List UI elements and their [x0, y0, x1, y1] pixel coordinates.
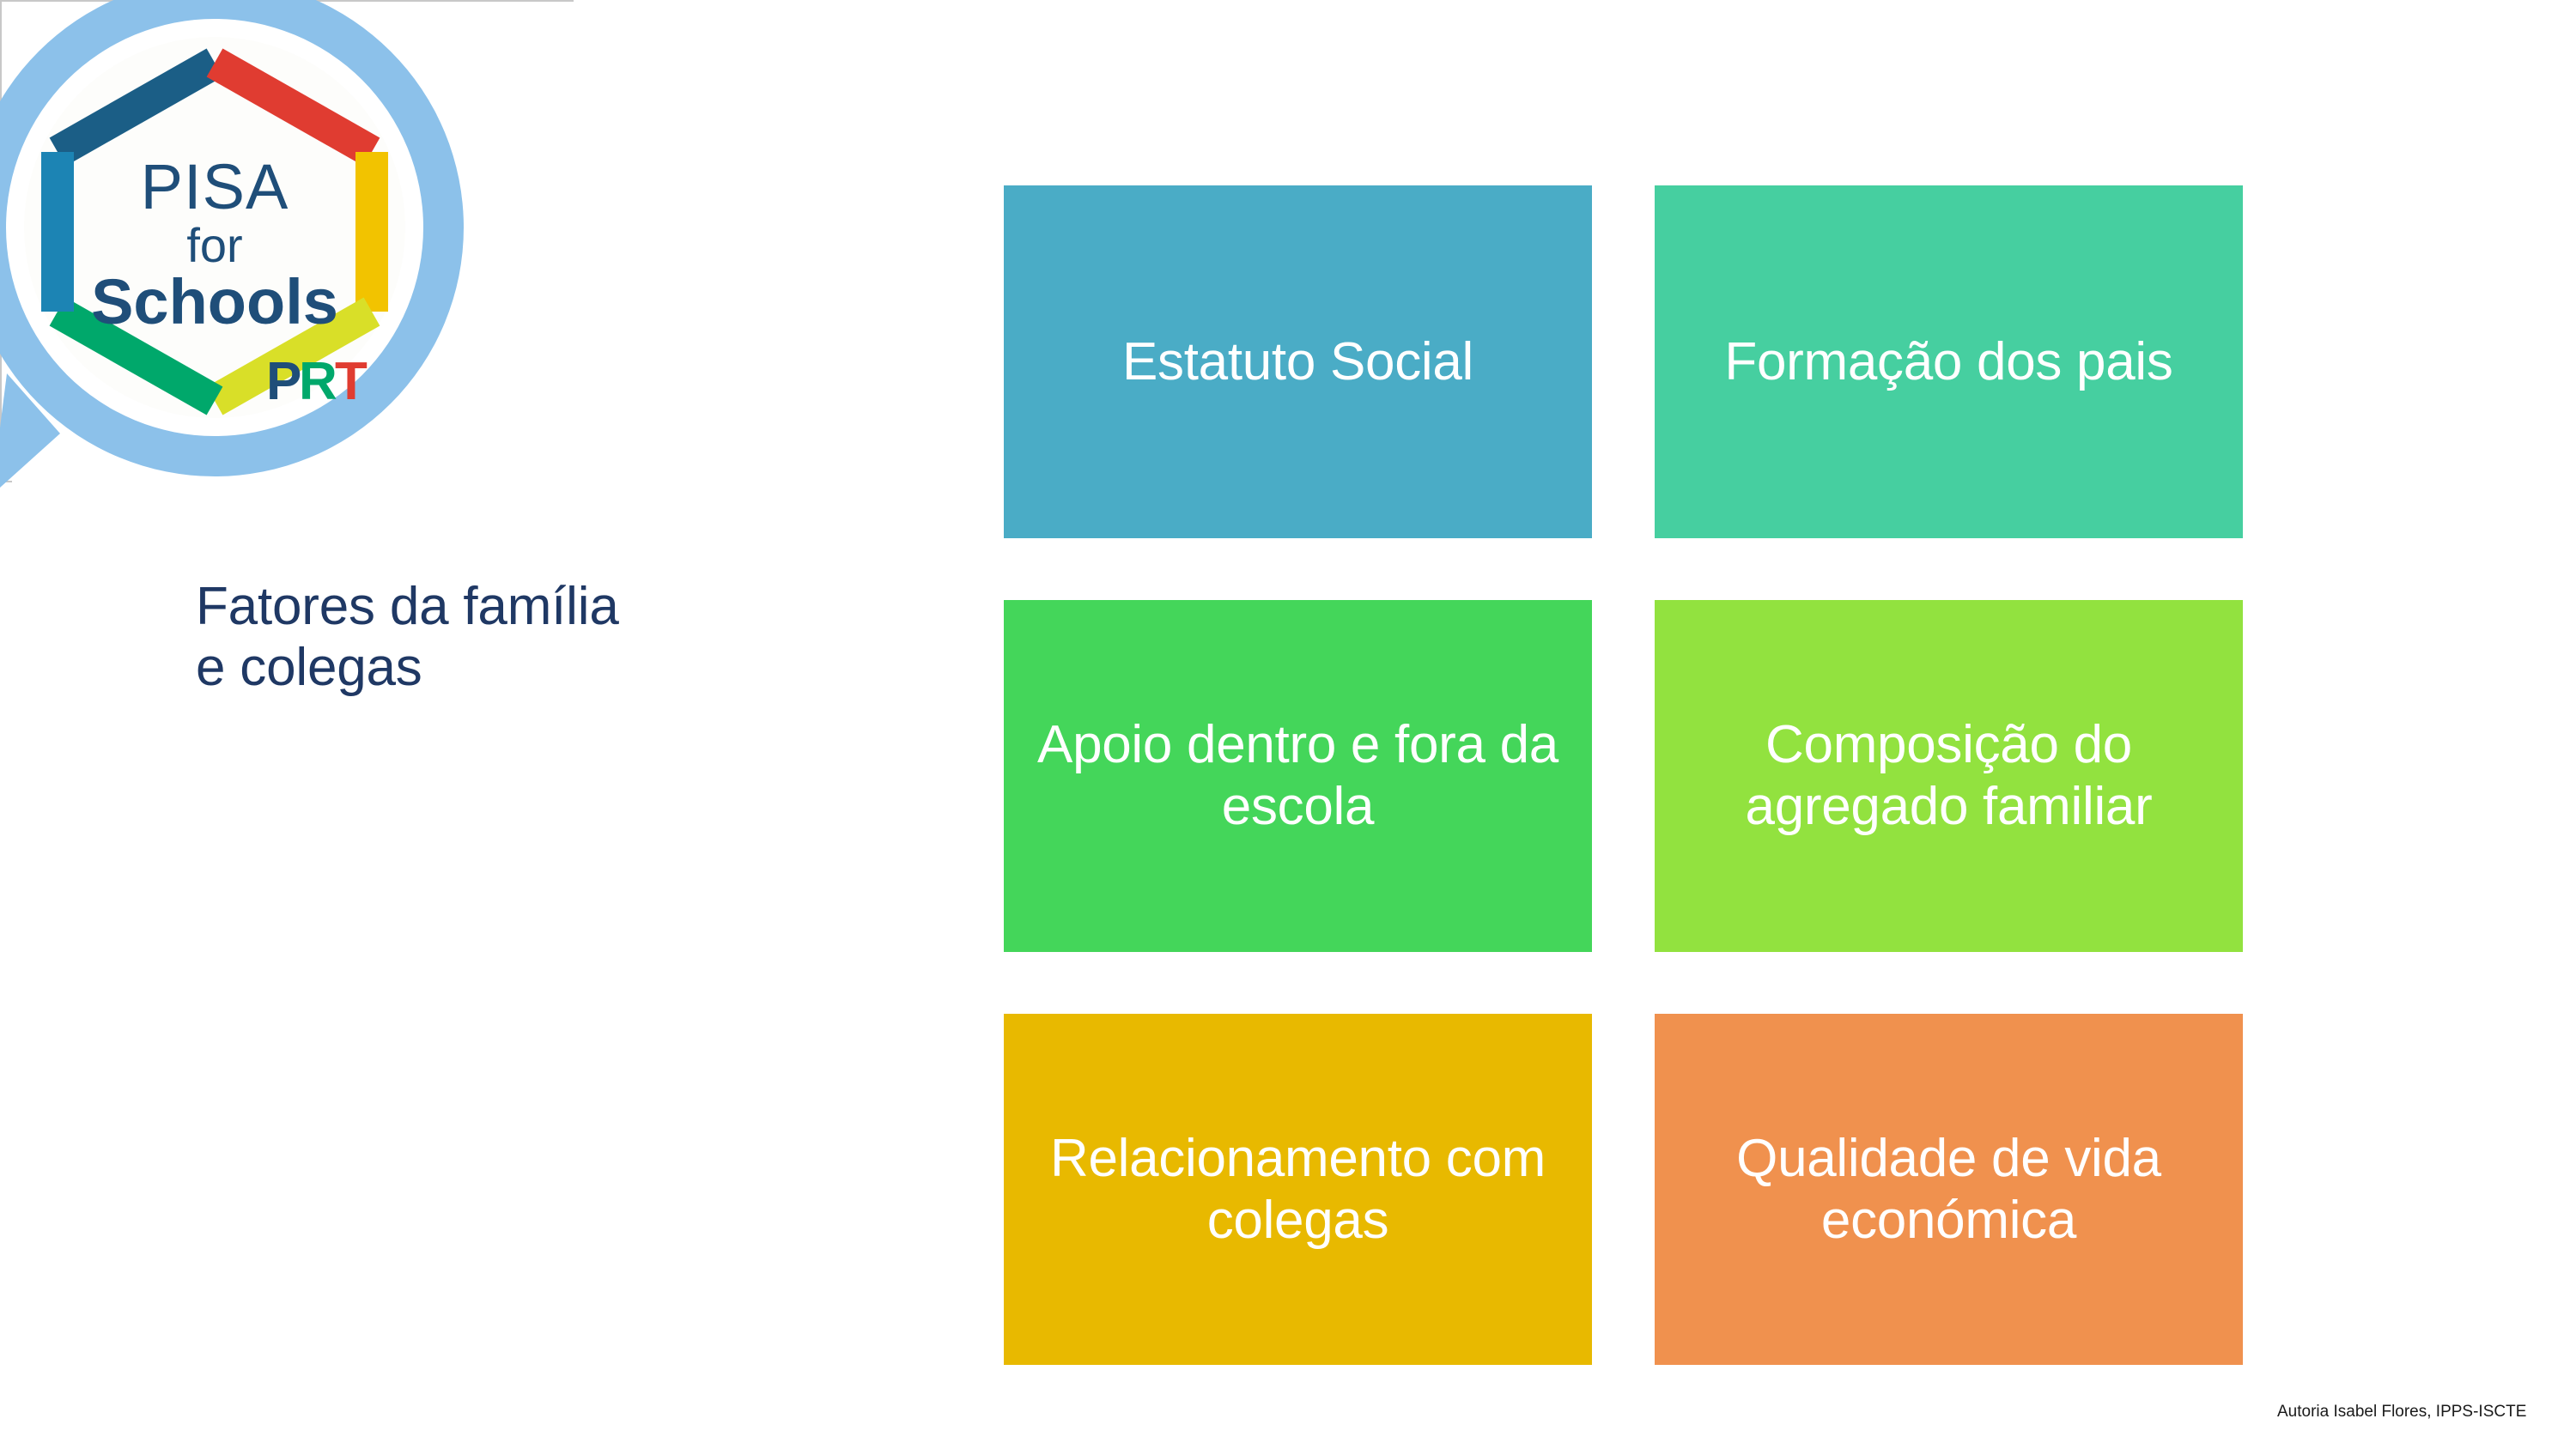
factor-box-apoio-dentro-e-fora-da-escola[interactable]: Apoio dentro e fora da escola	[1004, 600, 1592, 952]
svg-text:T: T	[335, 352, 368, 411]
logo-country-code-prt: P R T	[266, 352, 368, 411]
logo-word-pisa: PISA	[141, 151, 289, 222]
page-title-line-2: e colegas	[196, 638, 780, 699]
svg-text:P: P	[266, 352, 301, 411]
factor-box-estatuto-social[interactable]: Estatuto Social	[1004, 185, 1592, 538]
page-title: Fatores da família e colegas	[196, 577, 780, 698]
factor-box-formacao-dos-pais[interactable]: Formação dos pais	[1655, 185, 2243, 538]
pisa-for-schools-logo: PISA for Schools P R T	[0, 0, 541, 502]
factor-grid: Estatuto Social Formação dos pais Apoio …	[1004, 185, 2243, 1366]
factor-box-qualidade-de-vida-economica[interactable]: Qualidade de vida económica	[1655, 1014, 2243, 1365]
factor-box-relacionamento-com-colegas[interactable]: Relacionamento com colegas	[1004, 1014, 1592, 1365]
svg-text:R: R	[299, 352, 337, 411]
logo-word-for: for	[186, 218, 242, 272]
factor-box-composicao-do-agregado-familiar[interactable]: Composição do agregado familiar	[1655, 600, 2243, 952]
footer-credit: Autoria Isabel Flores, IPPS-ISCTE	[2277, 1403, 2526, 1422]
page-title-line-1: Fatores da família	[196, 577, 780, 638]
logo-word-schools: Schools	[91, 266, 338, 337]
